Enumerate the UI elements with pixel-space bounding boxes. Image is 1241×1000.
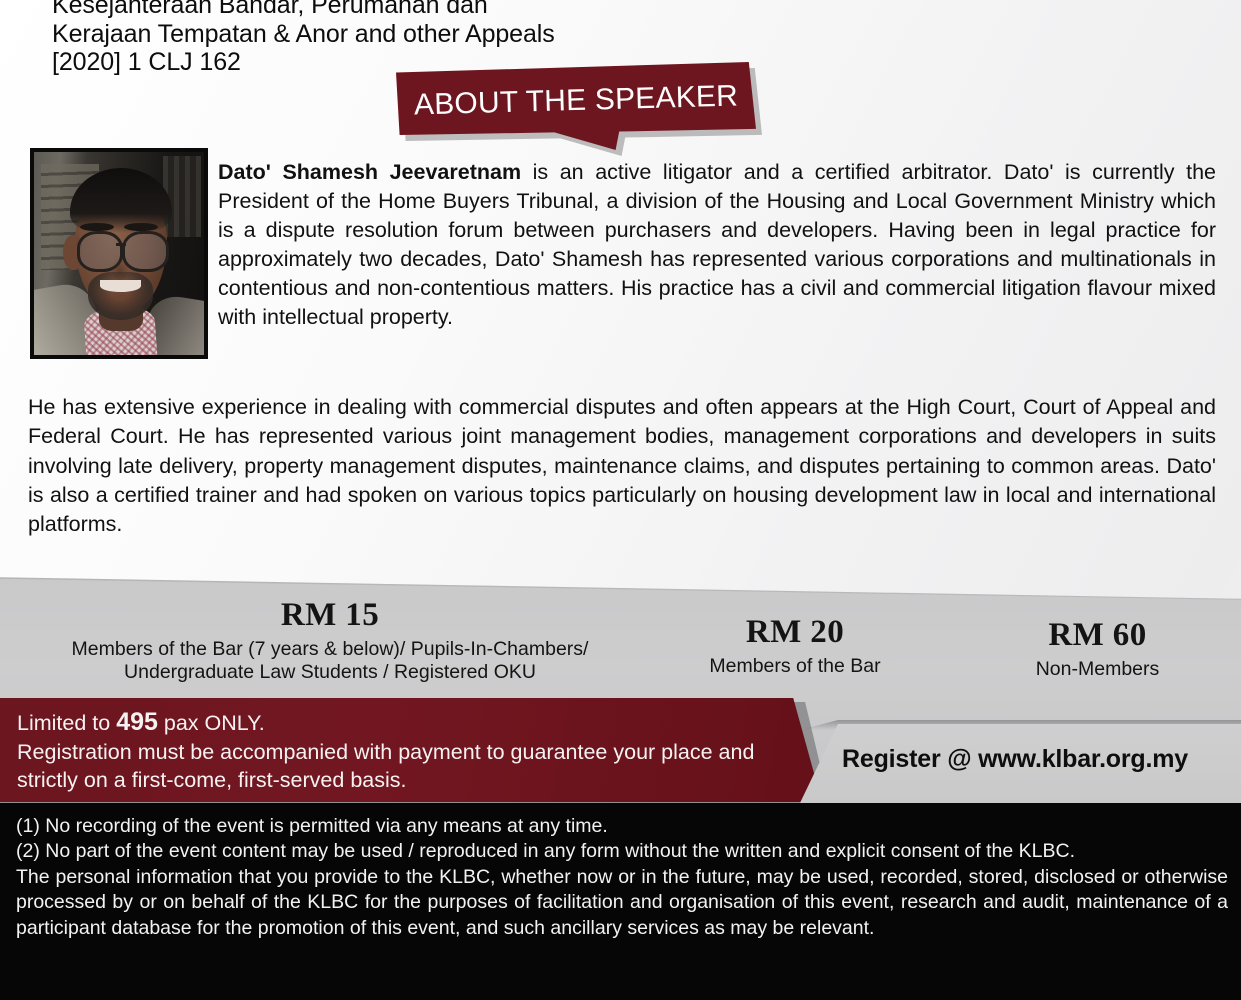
speaker-bio-paragraph-1-rest: is an active litigator and a certified a…: [218, 160, 1216, 329]
footer-disclaimer-text: (1) No recording of the event is permitt…: [16, 814, 1228, 941]
photo-glasses-bridge: [116, 243, 126, 246]
pricing-tier-2-description: Members of the Bar: [640, 655, 950, 678]
limited-notice-line-1: Limited to 495 pax ONLY.: [17, 708, 797, 738]
pricing-tier-3: RM 60 Non-Members: [955, 617, 1240, 681]
footer-line-1: (1) No recording of the event is permitt…: [16, 814, 1228, 839]
pricing-tier-2: RM 20 Members of the Bar: [640, 614, 950, 678]
about-the-speaker-ribbon: ABOUT THE SPEAKER: [396, 62, 756, 150]
case-citation-line-1: Kesejahteraan Bandar, Perumahan dan: [52, 0, 872, 20]
pricing-tier-1-price: RM 15: [25, 597, 635, 634]
speaker-name: Dato' Shamesh Jeevaretnam: [218, 160, 521, 184]
pricing-tier-1: RM 15 Members of the Bar (7 years & belo…: [25, 597, 635, 684]
limited-notice-suffix: pax ONLY.: [158, 711, 265, 735]
event-poster: Kesejahteraan Bandar, Perumahan dan Kera…: [0, 0, 1241, 1000]
speaker-photo-image: [34, 152, 204, 355]
speaker-photo: [30, 148, 208, 359]
photo-glasses-right-lens: [122, 231, 169, 272]
speaker-bio-paragraph-2: He has extensive experience in dealing w…: [28, 393, 1216, 539]
register-link[interactable]: Register @ www.klbar.org.my: [800, 745, 1230, 774]
speaker-bio-paragraph-1: Dato' Shamesh Jeevaretnam is an active l…: [218, 158, 1216, 332]
case-citation-line-2: Kerajaan Tempatan & Anor and other Appea…: [52, 20, 872, 49]
footer-line-2: (2) No part of the event content may be …: [16, 839, 1228, 864]
limited-notice-line-2: Registration must be accompanied with pa…: [17, 738, 797, 795]
pricing-tier-3-price: RM 60: [955, 617, 1240, 654]
pricing-tier-3-description: Non-Members: [955, 658, 1240, 681]
pricing-tier-1-description: Members of the Bar (7 years & below)/ Pu…: [25, 638, 635, 684]
pricing-tier-2-price: RM 20: [640, 614, 950, 651]
limited-notice-text: Limited to 495 pax ONLY. Registration mu…: [17, 708, 797, 795]
footer-line-3: The personal information that you provid…: [16, 865, 1228, 941]
limited-notice-pax-count: 495: [116, 708, 158, 736]
limited-notice-prefix: Limited to: [17, 711, 116, 735]
